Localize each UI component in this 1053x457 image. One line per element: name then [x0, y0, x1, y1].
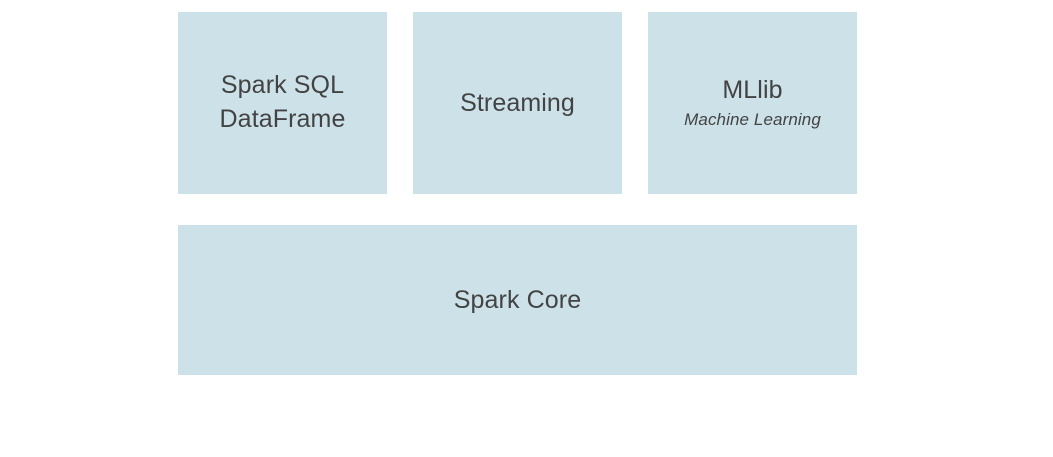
diagram-box-mllib-sublabel: Machine Learning [684, 109, 821, 131]
diagram-box-mllib-label: MLlib [722, 74, 782, 107]
diagram-box-mllib[interactable]: MLlib Machine Learning [648, 12, 857, 194]
diagram-box-spark-core[interactable]: Spark Core [178, 225, 857, 375]
diagram-box-spark-sql[interactable]: Spark SQL DataFrame [178, 12, 387, 194]
diagram-box-spark-core-label: Spark Core [454, 284, 581, 317]
diagram-box-streaming-label: Streaming [460, 87, 575, 120]
spark-stack-diagram: Spark SQL DataFrame Streaming MLlib Mach… [0, 0, 1053, 457]
diagram-box-streaming[interactable]: Streaming [413, 12, 622, 194]
diagram-box-spark-sql-label: Spark SQL DataFrame [220, 69, 346, 137]
